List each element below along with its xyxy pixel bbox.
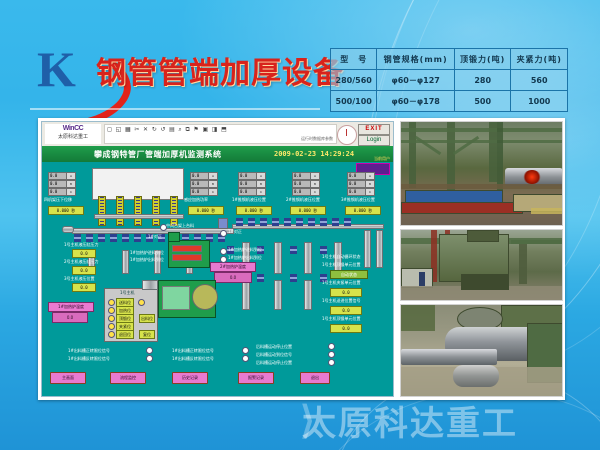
cell-upset: 500 (454, 91, 511, 112)
readout-meter: 0.0 C (238, 188, 266, 196)
nav-button-history[interactable]: 历史记录 (172, 372, 208, 384)
cell-clamp: 560 (511, 70, 568, 91)
group-caption: 感应加热功率 (184, 197, 208, 202)
roller (236, 218, 243, 226)
readout-meter: 0.0 B (238, 180, 266, 188)
roller (260, 218, 267, 226)
roller (320, 218, 327, 226)
readout-unit: A (365, 173, 374, 179)
step-label: 出料位 (139, 314, 155, 323)
right-readout-label: 1号主机夹紧单元位置 (322, 280, 361, 285)
roller (290, 246, 297, 254)
nav-button-alarm[interactable]: 报警记录 (238, 372, 274, 384)
lamp-label: 1#加热炉出料到位 (130, 257, 164, 262)
table-row: 500/100 φ60－φ178 500 1000 (331, 91, 568, 112)
hydraulic-ram (304, 280, 312, 310)
cell-size: φ60－φ178 (377, 91, 455, 112)
lamp-label: 后料槽运动到位信号 (256, 352, 292, 357)
col-header-model: 型 号 (331, 49, 377, 70)
cell-model: 280/560 (331, 70, 377, 91)
feed-pipe (142, 280, 158, 290)
hydraulic-line (172, 254, 202, 261)
group-caption: 四机架压下位移 (44, 197, 72, 202)
readout-unit: C (208, 189, 217, 195)
readout-meter: 0.0 C (190, 188, 218, 196)
status-lamp (242, 347, 249, 354)
furnace-column (98, 196, 106, 226)
login-button[interactable]: Login (358, 135, 390, 146)
lamp-label: 后料槽运动停止位置 (256, 344, 292, 349)
hydraulic-ram (274, 280, 282, 310)
roller (74, 234, 81, 242)
cell-model: 500/100 (331, 91, 377, 112)
readout-value: 0.0 (349, 189, 356, 195)
roller (110, 234, 117, 242)
valve-block (168, 232, 180, 242)
hydraulic-ram (304, 242, 312, 274)
upsetting-machine-photo (400, 229, 563, 301)
readout-unit: C (66, 189, 75, 195)
readout-unit: A (208, 173, 217, 179)
step-label: 复位 (139, 330, 155, 339)
nav-button-main[interactable]: 主画面 (50, 372, 86, 384)
readout-meter: 0.0 B (292, 180, 320, 188)
hydraulic-ram (274, 242, 282, 274)
group-caption: 2#推钢机液压位置 (286, 197, 320, 202)
left-readout-label: 1号主机液压缸压力 (64, 242, 99, 247)
cycle-time-bar: 0.000 秒 (236, 206, 272, 215)
furnace-beam (94, 214, 184, 219)
roller (122, 234, 129, 242)
exit-button[interactable]: EXIT (358, 124, 390, 135)
lamp-label: 1#出料槽反转限位信号 (68, 356, 110, 361)
right-readout-label: 1号主机顶锻单元位置 (322, 262, 361, 267)
readout-unit: C (310, 189, 319, 195)
roller (98, 234, 105, 242)
status-lamp (220, 248, 227, 255)
readout-unit: A (256, 173, 265, 179)
cell-clamp: 1000 (511, 91, 568, 112)
step-lamp (108, 299, 115, 306)
pipe-mill-line-photo (400, 121, 563, 226)
lamp-label: 1#对正 (148, 234, 162, 239)
furnace2-temp-value: 0.0 (214, 272, 252, 283)
hmi-title-bar: 攀成钢特管厂管端加厚机监测系统 2009-02-23 14:29:24 (42, 146, 393, 162)
readout-meter: 0.0 A (292, 172, 320, 180)
lamp-label: 1#出料槽反转限位信号 (172, 356, 214, 361)
right-readout-value: 0.0 (330, 324, 362, 333)
status-lamp (328, 359, 335, 366)
readout-value: 0.0 (240, 189, 247, 195)
readout-value: 0.0 (192, 173, 199, 179)
clock-icon (337, 125, 357, 145)
status-lamp (328, 343, 335, 350)
motor-shaft (62, 226, 74, 233)
readout-meter: 0.0 C (347, 188, 375, 196)
cycle-time-bar: 0.000 秒 (345, 206, 381, 215)
readout-meter: 0.0 A (347, 172, 375, 180)
table-header-row: 型 号 钢管规格(mm) 顶锻力(吨) 夹紧力(吨) (331, 49, 568, 70)
status-lamp (220, 230, 227, 237)
readout-unit: B (256, 181, 265, 187)
readout-value: 0.0 (50, 181, 57, 187)
furnace-column (116, 196, 124, 226)
step-lamp (108, 331, 115, 338)
readout-meter: 0.0 A (48, 172, 76, 180)
readout-meter: 0.0 B (48, 180, 76, 188)
group-caption: 1#推钢机液压位置 (232, 197, 266, 202)
step-lamp (108, 315, 115, 322)
status-lamp (146, 355, 153, 362)
right-readout-value: 0.0 (330, 306, 362, 315)
right-readout-label: 1号主机送进位置信号 (322, 298, 361, 303)
left-readout-label: 2号主机液压缸压力 (64, 259, 99, 264)
nav-button-exit[interactable]: 退出 (300, 372, 330, 384)
title-underline (30, 108, 320, 110)
wincc-sub: 太原科达重工 (45, 133, 101, 141)
roller (257, 274, 264, 282)
roller (248, 218, 255, 226)
clamp-body (162, 286, 190, 310)
hydraulic-line (172, 245, 202, 252)
cycle-time-bar: 0.000 秒 (48, 206, 84, 215)
furnace2-temp-label: 2#加热炉温度 (210, 262, 256, 272)
cycle-time-bar: 0.000 秒 (290, 206, 326, 215)
roller (272, 218, 279, 226)
hmi-toolbar[interactable]: ◻ ◱ ▦ ✂ ✕ ↻ ↺ ▤ ⌕ ⧉ ⚑ ▣ ◨ ⬒ 运行时数据库参数 (104, 124, 337, 144)
roller (308, 218, 315, 226)
status-lamp (220, 256, 227, 263)
slide-page: K 钢管管端加厚设备 型 号 钢管规格(mm) 顶锻力(吨) 夹紧力(吨) 28… (0, 0, 600, 450)
company-logo: K (33, 42, 105, 104)
readout-unit: A (310, 173, 319, 179)
readout-value: 0.0 (294, 181, 301, 187)
hmi-screenshot: WinCC 太原科达重工 ◻ ◱ ▦ ✂ ✕ ↻ ↺ ▤ ⌕ ⧉ ⚑ ▣ ◨ ⬒… (41, 121, 394, 397)
furnace-column (152, 196, 160, 226)
rotary-dial (192, 284, 218, 310)
readout-value: 0.0 (240, 173, 247, 179)
wincc-wordmark: WinCC (45, 124, 101, 133)
col-header-clamp: 夹紧力(吨) (511, 49, 568, 70)
readout-unit: B (310, 181, 319, 187)
table-row: 280/560 φ60－φ127 280 560 (331, 70, 568, 91)
readout-unit: C (256, 189, 265, 195)
readout-value: 0.0 (349, 181, 356, 187)
lamp-label: 1#出料槽正转限位信号 (68, 348, 110, 353)
roller (296, 218, 303, 226)
col-header-upset: 顶锻力(吨) (454, 49, 511, 70)
step-label: 退回位 (116, 330, 134, 339)
readout-unit: C (365, 189, 374, 195)
readout-value: 0.0 (192, 181, 199, 187)
readout-value: 0.0 (294, 189, 301, 195)
readout-meter: 0.0 C (48, 188, 76, 196)
wincc-logo: WinCC 太原科达重工 (45, 124, 101, 144)
lamp-label: 1#加热炉进料到位 (130, 250, 164, 255)
control-list-title: 1号主机 (120, 290, 135, 295)
readout-value: 0.0 (294, 173, 301, 179)
right-readout-state: 自动状态 (330, 270, 368, 279)
lamp-label: 后料槽运动停止位置 (256, 360, 292, 365)
roller (344, 218, 351, 226)
readout-unit: B (365, 181, 374, 187)
lamp-label: 1#对正 (228, 229, 242, 234)
pipe-end-closeup-photo (400, 304, 563, 397)
nav-button-process[interactable]: 流程监控 (110, 372, 146, 384)
hmi-system-title: 攀成钢特管厂管端加厚机监测系统 (94, 149, 222, 160)
cell-upset: 280 (454, 70, 511, 91)
readout-value: 0.0 (192, 189, 199, 195)
roller (290, 274, 297, 282)
readout-unit: B (66, 181, 75, 187)
watermark-brand: 太原科达重工 (302, 396, 518, 445)
status-lamp (328, 351, 335, 358)
readout-unit: B (208, 181, 217, 187)
readout-value: 0.0 (349, 173, 356, 179)
drive-motor (218, 218, 228, 229)
hydraulic-ram (242, 280, 250, 310)
roller (134, 234, 141, 242)
group-caption: 3#推钢机液压位置 (341, 197, 375, 202)
hmi-window-chrome: WinCC 太原科达重工 ◻ ◱ ▦ ✂ ✕ ↻ ↺ ▤ ⌕ ⧉ ⚑ ▣ ◨ ⬒… (42, 122, 393, 147)
left-readout-value: 0.0 (72, 283, 96, 292)
readout-meter: 0.0 B (190, 180, 218, 188)
roller (284, 218, 291, 226)
right-readout-value: 0.0 (330, 288, 362, 297)
roller (86, 234, 93, 242)
hmi-mimic-diagram[interactable]: 0.0 A 0.0 B 0.0 C 四机架压下位移 0.000 秒 0.0 A … (42, 162, 393, 396)
toolbar-sub-label: 运行时数据库参数 (105, 135, 336, 142)
lamp-label: 1#加热炉出料到位 (228, 255, 262, 260)
right-readout-label: 1号主机顶锻单元位置 (322, 316, 361, 321)
left-readout-value: 0.0 (72, 266, 96, 275)
furnace-temp-label: 1#加热炉温度 (48, 302, 94, 312)
step-lamp (108, 307, 115, 314)
readout-value: 0.0 (50, 189, 57, 195)
readout-unit: A (66, 173, 75, 179)
furnace-temp-value: 0.0 (52, 312, 88, 323)
toolbar-icon-row[interactable]: ◻ ◱ ▦ ✂ ✕ ↻ ↺ ▤ ⌕ ⧉ ⚑ ▣ ◨ ⬒ (105, 125, 336, 135)
left-readout-label: 3号主机液压位置 (64, 276, 95, 281)
readout-value: 0.0 (240, 181, 247, 187)
lamp-label: 中间台架上台料 (166, 223, 194, 228)
readout-meter: 0.0 C (292, 188, 320, 196)
lamp-label: 1#出料槽正转限位信号 (172, 348, 214, 353)
spec-table: 型 号 钢管规格(mm) 顶锻力(吨) 夹紧力(吨) 280/560 φ60－φ… (330, 48, 568, 112)
readout-meter: 0.0 A (190, 172, 218, 180)
page-title: 钢管管端加厚设备 (96, 48, 344, 92)
col-header-size: 钢管规格(mm) (377, 49, 455, 70)
readout-value: 0.0 (50, 173, 57, 179)
left-readout-value: 0.0 (72, 249, 96, 258)
step-lamp (108, 323, 115, 330)
vertical-pipe (364, 230, 371, 268)
lamp-label: 1#加热炉进料到位 (228, 247, 262, 252)
furnace-column (170, 196, 178, 226)
furnace-column (134, 196, 142, 226)
right-readout-label: 1号主机自动循环状态 (322, 254, 361, 259)
roller (332, 218, 339, 226)
hmi-datetime: 2009-02-23 14:29:24 (274, 150, 354, 158)
cell-size: φ60－φ127 (377, 70, 455, 91)
readout-meter: 0.0 B (347, 180, 375, 188)
step-lamp (138, 299, 145, 306)
readout-meter: 0.0 A (238, 172, 266, 180)
roller (320, 246, 327, 254)
status-lamp (242, 355, 249, 362)
status-lamp (146, 347, 153, 354)
cycle-time-bar: 0.000 秒 (188, 206, 224, 215)
vertical-pipe (376, 230, 383, 268)
hydraulic-ram (122, 250, 129, 274)
